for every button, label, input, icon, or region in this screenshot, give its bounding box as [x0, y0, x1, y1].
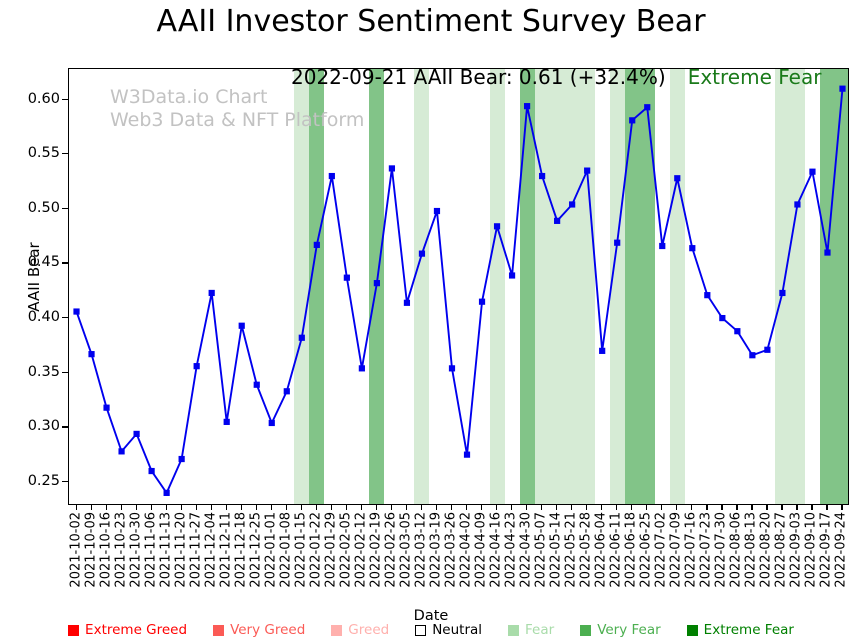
x-tick-label: 2022-04-23	[504, 512, 519, 588]
x-tick-mark	[751, 505, 752, 510]
data-point-marker	[133, 431, 139, 437]
x-tick-label: 2022-01-01	[263, 512, 278, 588]
data-point-marker	[88, 351, 94, 357]
x-tick-label: 2022-03-19	[428, 512, 443, 588]
x-tick-label: 2022-04-30	[519, 512, 534, 588]
x-tick-label: 2022-04-09	[474, 512, 489, 588]
x-tick-mark	[616, 505, 617, 510]
legend-swatch-icon	[68, 625, 79, 636]
x-tick-mark	[286, 505, 287, 510]
page-title: AAII Investor Sentiment Survey Bear	[0, 4, 862, 39]
data-point-marker	[389, 165, 395, 171]
x-tick-mark	[631, 505, 632, 510]
x-tick-label: 2022-02-19	[368, 512, 383, 588]
data-point-marker	[224, 419, 230, 425]
data-point-marker	[749, 352, 755, 358]
x-tick-label: 2021-11-20	[173, 512, 188, 588]
x-tick-mark	[121, 505, 122, 510]
data-point-marker	[524, 103, 530, 109]
x-tick-mark	[331, 505, 332, 510]
x-tick-mark	[676, 505, 677, 510]
x-tick-label: 2021-12-18	[233, 512, 248, 588]
x-tick-label: 2021-12-11	[218, 512, 233, 588]
x-tick-mark	[766, 505, 767, 510]
x-tick-mark	[706, 505, 707, 510]
chart-page: AAII Investor Sentiment Survey Bear 0.25…	[0, 0, 862, 642]
legend-label: Neutral	[432, 622, 482, 638]
data-point-marker	[449, 365, 455, 371]
x-tick-label: 2021-11-27	[188, 512, 203, 588]
data-point-marker	[794, 201, 800, 207]
legend-swatch-icon	[331, 625, 342, 636]
x-tick-mark	[226, 505, 227, 510]
data-point-marker	[464, 452, 470, 458]
x-tick-mark	[76, 505, 77, 510]
x-tick-mark	[781, 505, 782, 510]
data-point-marker	[209, 290, 215, 296]
x-tick-label: 2022-05-28	[579, 512, 594, 588]
x-tick-label: 2022-03-26	[443, 512, 458, 588]
x-axis-labels: 2021-10-022021-10-092021-10-162021-10-23…	[68, 512, 849, 604]
x-tick-label: 2021-10-02	[68, 512, 83, 588]
x-tick-mark	[601, 505, 602, 510]
x-tick-label: 2022-09-17	[819, 512, 834, 588]
data-point-marker	[419, 251, 425, 257]
x-tick-mark	[301, 505, 302, 510]
data-point-marker	[554, 218, 560, 224]
data-point-marker	[164, 490, 170, 496]
x-tick-label: 2022-07-23	[699, 512, 714, 588]
data-point-marker	[584, 168, 590, 174]
data-point-marker	[149, 468, 155, 474]
data-point-marker	[254, 382, 260, 388]
legend-swatch-icon	[580, 625, 591, 636]
x-tick-label: 2022-09-10	[804, 512, 819, 588]
x-tick-mark	[346, 505, 347, 510]
x-tick-mark	[196, 505, 197, 510]
x-tick-mark	[691, 505, 692, 510]
data-point-marker	[764, 347, 770, 353]
x-tick-mark	[511, 505, 512, 510]
x-tick-label: 2022-02-12	[353, 512, 368, 588]
y-axis-title: AAII Bear	[25, 217, 43, 337]
data-point-marker	[659, 243, 665, 249]
legend-swatch-icon	[687, 625, 698, 636]
series-line	[69, 69, 849, 505]
legend-label: Fear	[525, 622, 554, 638]
data-point-marker	[539, 173, 545, 179]
data-point-marker	[839, 86, 845, 92]
x-tick-mark	[811, 505, 812, 510]
x-tick-label: 2022-07-09	[669, 512, 684, 588]
data-point-marker	[374, 280, 380, 286]
x-tick-mark	[391, 505, 392, 510]
x-tick-mark	[406, 505, 407, 510]
legend-item[interactable]: Extreme Greed	[68, 622, 187, 638]
x-tick-mark	[556, 505, 557, 510]
data-point-marker	[284, 388, 290, 394]
data-point-marker	[599, 348, 605, 354]
x-tick-label: 2022-06-18	[624, 512, 639, 588]
x-tick-mark	[361, 505, 362, 510]
x-tick-label: 2022-05-14	[549, 512, 564, 588]
x-tick-mark	[721, 505, 722, 510]
data-point-marker	[509, 272, 515, 278]
x-tick-label: 2022-06-25	[639, 512, 654, 588]
data-point-marker	[73, 308, 79, 314]
x-tick-mark	[481, 505, 482, 510]
data-point-marker	[359, 365, 365, 371]
legend-label: Very Fear	[597, 622, 660, 638]
x-tick-label: 2022-05-07	[534, 512, 549, 588]
data-point-marker	[239, 323, 245, 329]
legend-swatch-icon	[508, 625, 519, 636]
x-tick-mark	[661, 505, 662, 510]
legend-label: Greed	[348, 622, 389, 638]
data-point-marker	[179, 456, 185, 462]
x-tick-mark	[211, 505, 212, 510]
data-point-marker	[299, 335, 305, 341]
data-point-marker	[719, 315, 725, 321]
series-path	[77, 89, 843, 493]
x-tick-mark	[376, 505, 377, 510]
data-point-marker	[779, 290, 785, 296]
data-point-marker	[569, 201, 575, 207]
legend-item[interactable]: Extreme Fear	[687, 622, 794, 638]
x-tick-mark	[496, 505, 497, 510]
x-tick-mark	[106, 505, 107, 510]
x-tick-mark	[421, 505, 422, 510]
x-tick-label: 2022-03-12	[413, 512, 428, 588]
x-tick-mark	[256, 505, 257, 510]
x-tick-label: 2021-12-04	[203, 512, 218, 588]
x-tick-mark	[466, 505, 467, 510]
x-tick-label: 2022-02-26	[383, 512, 398, 588]
legend-swatch-icon	[213, 625, 224, 636]
x-tick-mark	[586, 505, 587, 510]
x-tick-mark	[796, 505, 797, 510]
data-point-marker	[809, 169, 815, 175]
x-tick-label: 2021-10-23	[113, 512, 128, 588]
x-tick-mark	[571, 505, 572, 510]
x-tick-label: 2022-02-05	[338, 512, 353, 588]
x-tick-label: 2022-07-02	[654, 512, 669, 588]
legend-item[interactable]: Very Greed	[213, 622, 305, 638]
data-point-marker	[194, 363, 200, 369]
data-point-marker	[434, 208, 440, 214]
x-tick-label: 2022-01-29	[323, 512, 338, 588]
x-tick-label: 2022-01-08	[278, 512, 293, 588]
data-point-marker	[494, 223, 500, 229]
legend-item[interactable]: Very Fear	[580, 622, 660, 638]
legend: Extreme GreedVery GreedGreedNeutralFearV…	[0, 618, 862, 642]
plot-area: W3Data.io Chart Web3 Data & NFT Platform…	[68, 68, 849, 505]
x-tick-mark	[826, 505, 827, 510]
data-point-marker	[404, 300, 410, 306]
data-point-marker	[269, 420, 275, 426]
data-point-marker	[614, 240, 620, 246]
x-tick-mark	[541, 505, 542, 510]
legend-item[interactable]: Fear	[508, 622, 554, 638]
x-tick-label: 2021-10-30	[128, 512, 143, 588]
legend-label: Extreme Fear	[704, 622, 794, 638]
legend-swatch-icon	[415, 625, 426, 636]
data-point-marker	[644, 104, 650, 110]
x-tick-label: 2022-05-21	[564, 512, 579, 588]
x-tick-label: 2022-06-04	[594, 512, 609, 588]
x-tick-mark	[181, 505, 182, 510]
x-tick-mark	[271, 505, 272, 510]
data-point-marker	[479, 299, 485, 305]
data-point-marker	[629, 117, 635, 123]
x-tick-label: 2022-04-16	[489, 512, 504, 588]
x-tick-mark	[451, 505, 452, 510]
x-tick-label: 2021-11-06	[143, 512, 158, 588]
x-tick-mark	[841, 505, 842, 510]
x-tick-label: 2022-01-22	[308, 512, 323, 588]
x-tick-label: 2022-09-24	[834, 512, 849, 588]
legend-label: Very Greed	[230, 622, 305, 638]
x-tick-label: 2022-08-13	[744, 512, 759, 588]
x-tick-label: 2021-11-13	[158, 512, 173, 588]
x-tick-mark	[166, 505, 167, 510]
x-tick-label: 2021-10-09	[83, 512, 98, 588]
x-tick-mark	[91, 505, 92, 510]
x-tick-label: 2022-01-15	[293, 512, 308, 588]
legend-label: Extreme Greed	[85, 622, 187, 638]
x-tick-mark	[136, 505, 137, 510]
x-tick-label: 2022-08-06	[729, 512, 744, 588]
x-tick-label: 2022-07-16	[684, 512, 699, 588]
data-point-marker	[734, 328, 740, 334]
x-tick-label: 2022-08-20	[759, 512, 774, 588]
x-tick-mark	[736, 505, 737, 510]
data-point-marker	[689, 245, 695, 251]
x-tick-label: 2021-10-16	[98, 512, 113, 588]
data-point-marker	[329, 173, 335, 179]
data-point-marker	[704, 292, 710, 298]
x-tick-mark	[151, 505, 152, 510]
x-tick-mark	[646, 505, 647, 510]
data-point-marker	[674, 175, 680, 181]
x-tick-mark	[316, 505, 317, 510]
x-tick-mark	[526, 505, 527, 510]
x-tick-label: 2022-08-27	[774, 512, 789, 588]
x-tick-mark	[241, 505, 242, 510]
x-tick-mark	[436, 505, 437, 510]
data-point-marker	[103, 405, 109, 411]
x-tick-label: 2022-04-02	[459, 512, 474, 588]
data-point-marker	[118, 448, 124, 454]
x-tick-label: 2021-12-25	[248, 512, 263, 588]
legend-item[interactable]: Greed	[331, 622, 389, 638]
data-point-marker	[824, 249, 830, 255]
data-point-marker	[314, 242, 320, 248]
x-tick-label: 2022-09-03	[789, 512, 804, 588]
data-point-marker	[344, 275, 350, 281]
x-tick-label: 2022-03-05	[398, 512, 413, 588]
legend-item[interactable]: Neutral	[415, 622, 482, 638]
x-tick-label: 2022-06-11	[609, 512, 624, 588]
x-tick-label: 2022-07-30	[714, 512, 729, 588]
